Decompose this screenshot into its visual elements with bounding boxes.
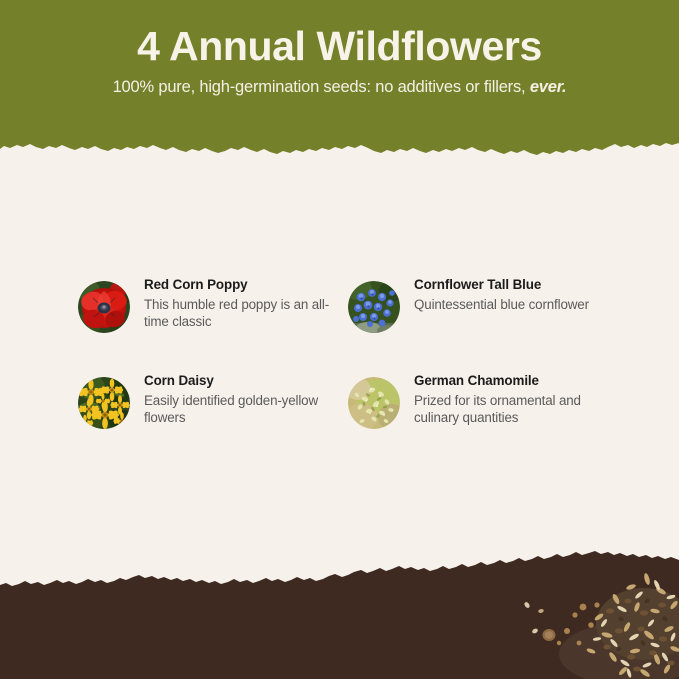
- page-subtitle-emphasis: ever.: [530, 78, 567, 96]
- flower-name: Cornflower Tall Blue: [414, 277, 589, 294]
- flower-list: Red Corn Poppy This humble red poppy is …: [78, 276, 618, 429]
- flower-description: Easily identified golden-yellow flowers: [144, 390, 348, 427]
- flower-description: Prized for its ornamental and culinary q…: [414, 390, 618, 427]
- item-text-block: Cornflower Tall Blue Quintessential blue…: [400, 276, 589, 313]
- page-subtitle-main: 100% pure, high-germination seeds: no ad…: [113, 78, 526, 96]
- flower-name: Corn Daisy: [144, 373, 348, 390]
- wildflower-seed-infographic: 4 Annual Wildflowers 100% pure, high-ger…: [0, 0, 679, 679]
- red-poppy-photo-icon: [78, 281, 130, 333]
- page-subtitle: 100% pure, high-germination seeds: no ad…: [0, 69, 679, 97]
- flower-row-2: Corn Daisy Easily identified golden-yell…: [78, 372, 618, 429]
- item-text-block: Red Corn Poppy This humble red poppy is …: [130, 276, 348, 331]
- seed-pile-illustration-icon: [479, 539, 679, 679]
- header-band: 4 Annual Wildflowers 100% pure, high-ger…: [0, 0, 679, 168]
- soil-band: [0, 549, 679, 679]
- flower-description: Quintessential blue cornflower: [414, 294, 589, 314]
- page-title: 4 Annual Wildflowers: [0, 0, 679, 69]
- item-text-block: Corn Daisy Easily identified golden-yell…: [130, 372, 348, 427]
- flower-name: Red Corn Poppy: [144, 277, 348, 294]
- yellow-corn-daisy-photo-icon: [78, 377, 130, 429]
- blue-cornflower-photo-icon: [348, 281, 400, 333]
- header-text-block: 4 Annual Wildflowers 100% pure, high-ger…: [0, 0, 679, 97]
- flower-name: German Chamomile: [414, 373, 618, 390]
- german-chamomile-photo-icon: [348, 377, 400, 429]
- list-item-corn-daisy[interactable]: Corn Daisy Easily identified golden-yell…: [78, 372, 348, 429]
- item-text-block: German Chamomile Prized for its ornament…: [400, 372, 618, 427]
- flower-row-1: Red Corn Poppy This humble red poppy is …: [78, 276, 618, 333]
- list-item-cornflower-tall-blue[interactable]: Cornflower Tall Blue Quintessential blue…: [348, 276, 618, 333]
- list-item-german-chamomile[interactable]: German Chamomile Prized for its ornament…: [348, 372, 618, 429]
- flower-description: This humble red poppy is an all-time cla…: [144, 294, 348, 331]
- list-item-red-corn-poppy[interactable]: Red Corn Poppy This humble red poppy is …: [78, 276, 348, 333]
